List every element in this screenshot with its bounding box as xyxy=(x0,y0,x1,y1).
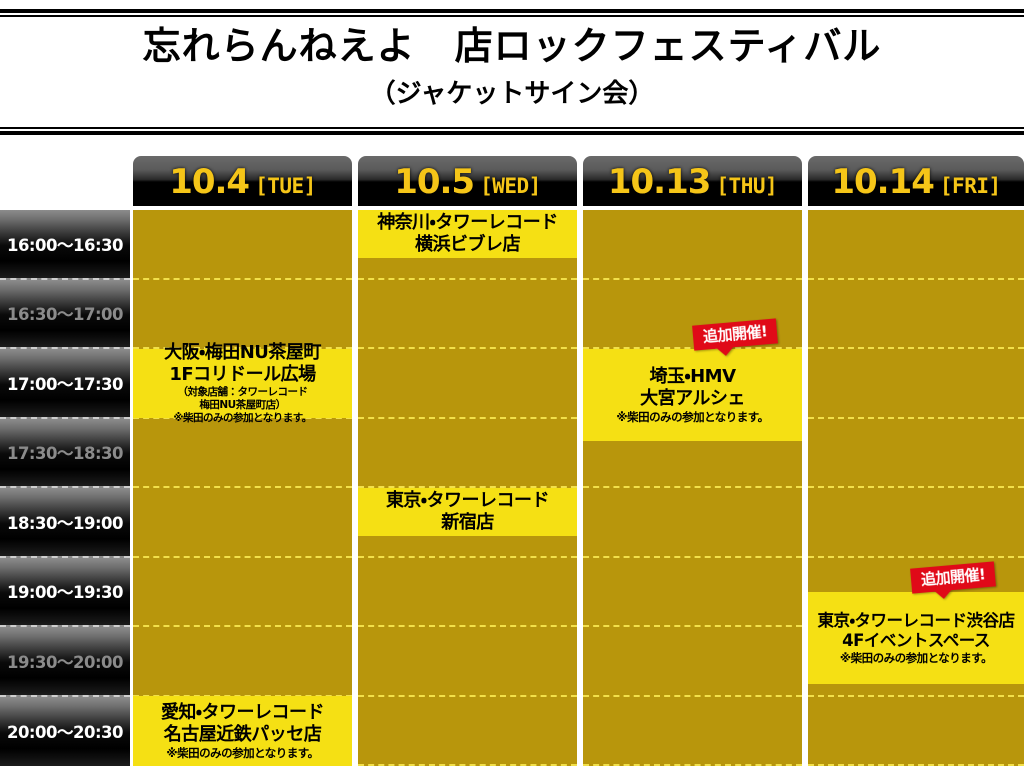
date-number: 10.4 xyxy=(169,162,249,202)
time-slot-label: 17:30〜18:30 xyxy=(7,440,123,464)
time-slot-label: 16:30〜17:00 xyxy=(7,301,123,325)
day-column-1: 大阪・梅田NU茶屋町1Fコリドール広場（対象店舗：タワーレコード梅田NU茶屋町店… xyxy=(133,210,352,766)
empty-slot[interactable] xyxy=(133,558,352,628)
day-column-3: 埼玉・HMV大宮アルシェ※柴田のみの参加となります。追加開催! xyxy=(583,210,802,766)
date-header-4: 10.14[FRI] xyxy=(808,156,1024,206)
date-header-3: 10.13[THU] xyxy=(583,156,802,206)
empty-slot[interactable] xyxy=(358,419,577,489)
empty-slot[interactable] xyxy=(583,558,802,628)
event-venue-line1: 愛知・タワーレコード xyxy=(161,702,324,724)
event-venue-line1: 埼玉・HMV xyxy=(649,366,735,388)
event-venue-line2: 1Fコリドール広場 xyxy=(169,364,315,386)
date-chip: 10.4[TUE] xyxy=(133,156,352,206)
empty-slot[interactable] xyxy=(133,210,352,280)
empty-slot[interactable] xyxy=(358,558,577,628)
empty-slot[interactable] xyxy=(358,280,577,350)
empty-slot[interactable] xyxy=(133,627,352,697)
event-card[interactable]: 愛知・タワーレコード名古屋近鉄パッセ店※柴田のみの参加となります。 xyxy=(133,696,352,766)
empty-slot[interactable] xyxy=(583,488,802,558)
badge-tail-icon xyxy=(716,346,735,357)
date-chip: 10.5[WED] xyxy=(358,156,577,206)
page-subtitle: （ジャケットサイン会） xyxy=(0,80,1024,109)
date-weekday: [THU] xyxy=(716,174,777,198)
empty-slot[interactable] xyxy=(133,419,352,489)
title-band: 忘れらんねえよ 店ロックフェスティバル （ジャケットサイン会） xyxy=(0,0,1024,140)
event-venue-line2: 名古屋近鉄パッセ店 xyxy=(164,724,322,746)
empty-slot[interactable] xyxy=(583,697,802,767)
event-venue-line2: 新宿店 xyxy=(441,512,494,534)
event-card[interactable]: 東京・タワーレコード新宿店 xyxy=(358,488,577,536)
event-venue-line2: 横浜ビブレ店 xyxy=(415,234,520,256)
event-note: ※柴田のみの参加となります。 xyxy=(173,412,311,425)
empty-slot[interactable] xyxy=(808,210,1024,280)
time-slot-label: 20:00〜20:30 xyxy=(7,719,123,743)
date-header-2: 10.5[WED] xyxy=(358,156,577,206)
event-venue-line1: 東京・タワーレコード xyxy=(386,490,549,512)
page-title: 忘れらんねえよ 店ロックフェスティバル xyxy=(0,25,1024,69)
title-rule-bottom xyxy=(0,127,1024,135)
event-note: 梅田NU茶屋町店） xyxy=(199,399,285,412)
event-venue-line2: 大宮アルシェ xyxy=(640,388,745,410)
time-slot-label: 18:30〜19:00 xyxy=(7,510,123,534)
time-slot-label: 19:00〜19:30 xyxy=(7,579,123,603)
time-slot-6: 19:00〜19:30 xyxy=(0,558,130,628)
time-slot-4: 17:30〜18:30 xyxy=(0,419,130,489)
date-header-1: 10.4[TUE] xyxy=(133,156,352,206)
time-slot-7: 19:30〜20:00 xyxy=(0,627,130,697)
event-venue-line2: 4Fイベントスペース xyxy=(842,631,990,651)
event-card[interactable]: 埼玉・HMV大宮アルシェ※柴田のみの参加となります。追加開催! xyxy=(583,349,802,441)
date-inner: 10.5[WED] xyxy=(394,162,541,202)
empty-slot[interactable] xyxy=(808,349,1024,419)
event-venue-line1: 東京・タワーレコード渋谷店 xyxy=(817,611,1014,631)
empty-slot[interactable] xyxy=(583,627,802,697)
date-inner: 10.14[FRI] xyxy=(831,162,1000,202)
date-weekday: [WED] xyxy=(480,174,541,198)
empty-slot[interactable] xyxy=(808,280,1024,350)
date-weekday: [FRI] xyxy=(940,174,1001,198)
time-slot-label: 17:00〜17:30 xyxy=(7,371,123,395)
time-slot-8: 20:00〜20:30 xyxy=(0,697,130,767)
event-note: ※柴田のみの参加となります。 xyxy=(840,651,992,665)
date-number: 10.14 xyxy=(831,162,934,202)
empty-slot[interactable] xyxy=(358,627,577,697)
title-rule-top xyxy=(0,9,1024,17)
empty-slot[interactable] xyxy=(808,488,1024,558)
date-chip: 10.13[THU] xyxy=(583,156,802,206)
empty-slot[interactable] xyxy=(133,280,352,350)
time-slot-2: 16:30〜17:00 xyxy=(0,280,130,350)
time-column: 16:00〜16:3016:30〜17:0017:00〜17:3017:30〜1… xyxy=(0,210,130,766)
time-slot-3: 17:00〜17:30 xyxy=(0,349,130,419)
time-slot-5: 18:30〜19:00 xyxy=(0,488,130,558)
date-inner: 10.4[TUE] xyxy=(169,162,316,202)
empty-slot[interactable] xyxy=(808,419,1024,489)
event-note: ※柴田のみの参加となります。 xyxy=(166,746,318,760)
day-column-4: 東京・タワーレコード渋谷店4Fイベントスペース※柴田のみの参加となります。追加開… xyxy=(808,210,1024,766)
date-chip: 10.14[FRI] xyxy=(808,156,1024,206)
date-weekday: [TUE] xyxy=(255,174,316,198)
rule-thin-line xyxy=(0,15,1024,17)
schedule-grid: 10.4[TUE]10.5[WED]10.13[THU]10.14[FRI] 1… xyxy=(0,140,1024,768)
event-card[interactable]: 大阪・梅田NU茶屋町1Fコリドール広場（対象店舗：タワーレコード梅田NU茶屋町店… xyxy=(133,349,352,418)
date-number: 10.5 xyxy=(394,162,474,202)
empty-slot[interactable] xyxy=(133,488,352,558)
event-note: ※柴田のみの参加となります。 xyxy=(616,410,768,424)
event-note: （対象店舗：タワーレコード xyxy=(178,386,308,399)
day-column-2: 神奈川・タワーレコード横浜ビブレ店東京・タワーレコード新宿店 xyxy=(358,210,577,766)
event-venue-line1: 神奈川・タワーレコード xyxy=(377,212,558,234)
empty-slot[interactable] xyxy=(808,697,1024,767)
date-inner: 10.13[THU] xyxy=(608,162,777,202)
time-slot-label: 16:00〜16:30 xyxy=(7,232,123,256)
badge-tail-icon xyxy=(934,589,953,600)
empty-slot[interactable] xyxy=(358,349,577,419)
time-slot-1: 16:00〜16:30 xyxy=(0,210,130,280)
event-card[interactable]: 神奈川・タワーレコード横浜ビブレ店 xyxy=(358,210,577,258)
empty-slot[interactable] xyxy=(358,697,577,767)
event-card[interactable]: 東京・タワーレコード渋谷店4Fイベントスペース※柴田のみの参加となります。追加開… xyxy=(808,592,1024,684)
event-venue-line1: 大阪・梅田NU茶屋町 xyxy=(164,342,321,364)
rule-thick-line xyxy=(0,131,1024,135)
date-number: 10.13 xyxy=(608,162,711,202)
empty-slot[interactable] xyxy=(583,210,802,280)
time-slot-label: 19:30〜20:00 xyxy=(7,649,123,673)
